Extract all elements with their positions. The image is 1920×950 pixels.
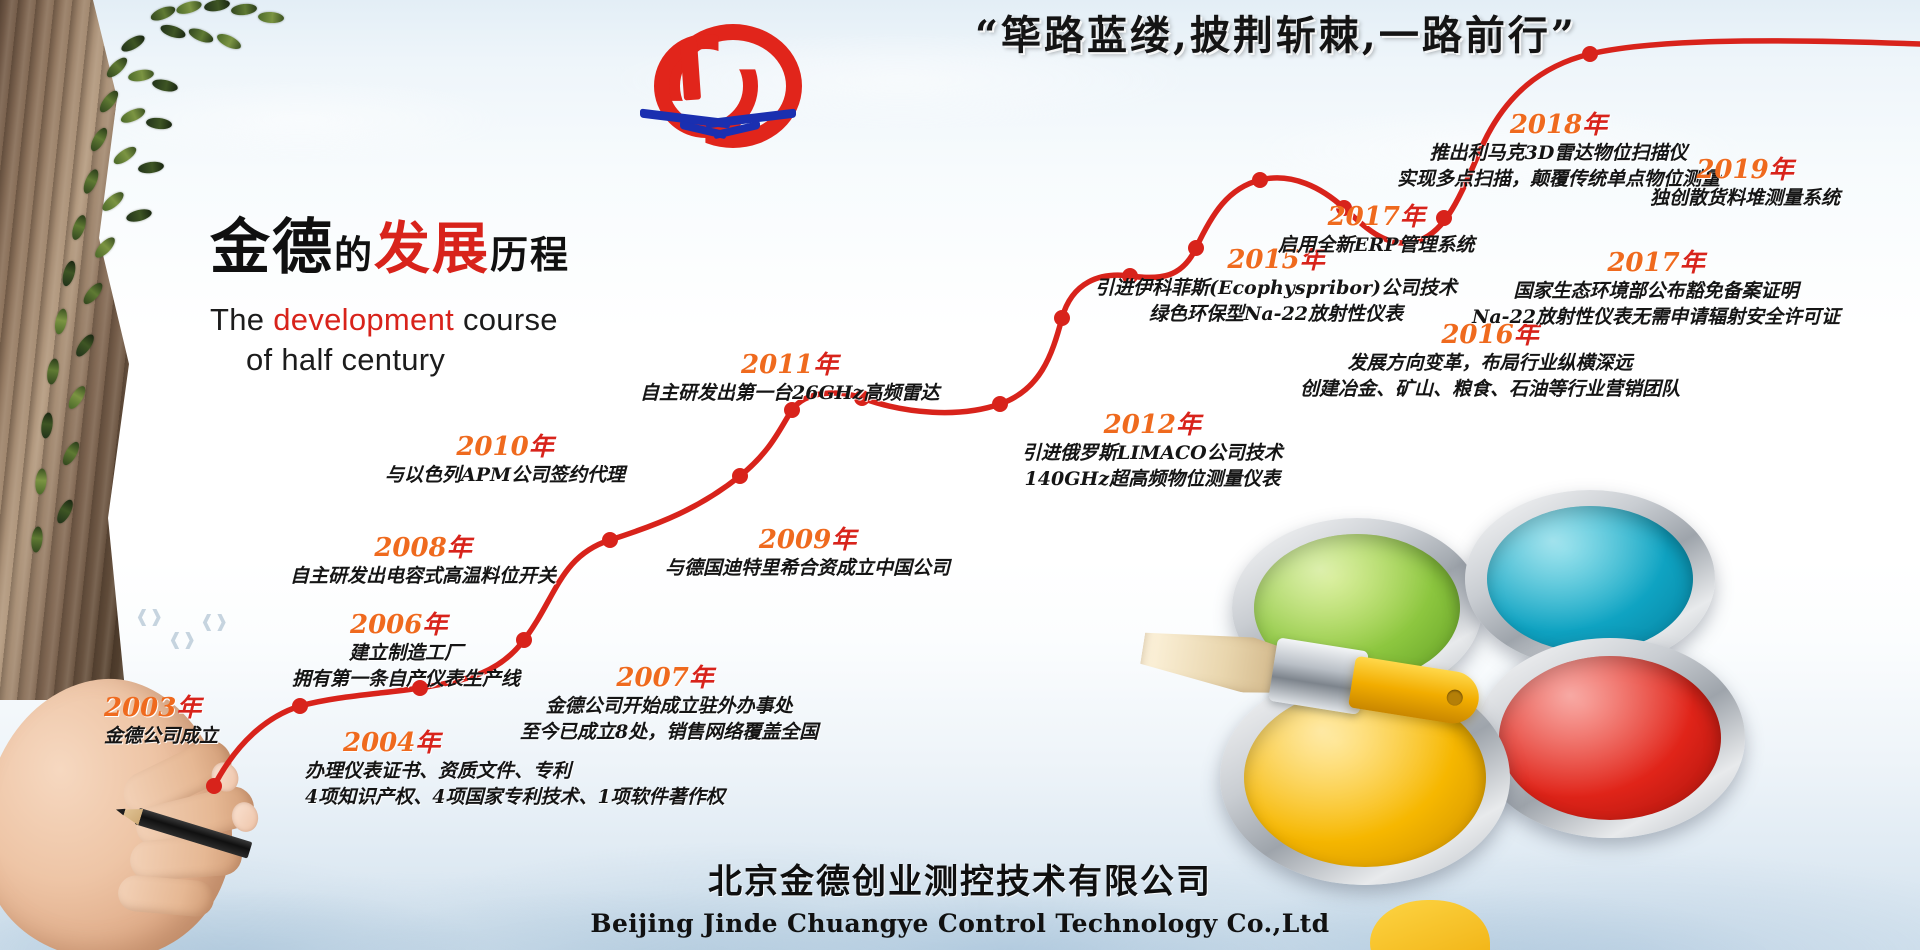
- milestone-line: 与以色列APM公司签约代理: [385, 463, 625, 489]
- milestone-year: 2006年: [350, 605, 520, 641]
- milestone-line: 创建冶金、矿山、粮食、石油等行业营销团队: [1300, 377, 1680, 403]
- milestone-line: 拥有第一条自产仪表生产线: [292, 667, 520, 693]
- milestone-line: 引进伊科菲斯(Ecophyspribor)公司技术: [1095, 276, 1457, 302]
- milestone-line: 办理仪表证书、资质文件、专利: [305, 759, 725, 785]
- tree-trunk: [0, 0, 150, 700]
- company-name-en: Beijing Jinde Chuangye Control Technolog…: [0, 909, 1920, 938]
- milestone-2006[interactable]: 2006年 建立制造工厂 拥有第一条自产仪表生产线: [292, 605, 520, 692]
- milestone-year: 2012年: [1022, 405, 1283, 441]
- milestone-2008[interactable]: 2008年 自主研发出电容式高温料位开关: [290, 528, 556, 590]
- jinde-logo: [648, 18, 798, 158]
- milestone-2017-certificate[interactable]: 2017年 国家生态环境部公布豁免备案证明 Na-22放射性仪表无需申请辐射安全…: [1472, 243, 1840, 330]
- banner-quote: “筚路蓝缕,披荆斩棘,一路前行”: [975, 3, 1795, 61]
- milestone-year: 2010年: [385, 427, 625, 463]
- milestone-2017-erp[interactable]: 2017年 启用全新ERP管理系统: [1278, 197, 1475, 259]
- milestone-year: 2018年: [1397, 105, 1720, 141]
- milestone-year: 2009年: [665, 520, 950, 556]
- paint-can-red: [1475, 638, 1745, 838]
- milestone-line: 与德国迪特里希合资成立中国公司: [665, 556, 950, 582]
- milestone-2003[interactable]: 2003年 金德公司成立: [104, 688, 218, 750]
- milestone-line: 金德公司开始成立驻外办事处: [520, 694, 818, 720]
- logo-wave: [640, 110, 800, 150]
- milestone-year: 2011年: [640, 345, 939, 381]
- milestone-line: 启用全新ERP管理系统: [1278, 233, 1475, 259]
- milestone-line: 4项知识产权、4项国家专利技术、1项软件著作权: [305, 785, 725, 811]
- milestone-line: 自主研发出第一台26GHz高频雷达: [640, 381, 939, 407]
- milestone-line: 国家生态环境部公布豁免备案证明: [1472, 279, 1840, 305]
- milestone-year: 2017年: [1278, 197, 1475, 233]
- title-cn-part4: 历程: [490, 232, 570, 277]
- milestone-year: 2008年: [290, 528, 556, 564]
- title-cn-part2: 的: [334, 232, 374, 277]
- page-title: 金德的发展历程 The development courseof half ce…: [210, 218, 570, 379]
- milestone-line: 独创散货料堆测量系统: [1650, 186, 1840, 212]
- milestone-2019[interactable]: 2019年 独创散货料堆测量系统: [1650, 150, 1840, 212]
- milestone-2009[interactable]: 2009年 与德国迪特里希合资成立中国公司: [665, 520, 950, 582]
- title-en-c: course: [454, 302, 558, 337]
- milestone-year: 2019年: [1650, 150, 1840, 186]
- title-en-a: The: [210, 302, 273, 337]
- milestone-2011[interactable]: 2011年 自主研发出第一台26GHz高频雷达: [640, 345, 939, 407]
- title-cn-part1: 金德: [210, 213, 334, 283]
- milestone-line: 建立制造工厂: [292, 641, 520, 667]
- milestone-line: 发展方向变革，布局行业纵横深远: [1300, 351, 1680, 377]
- title-en-line2: of half century: [246, 340, 570, 380]
- milestone-line: 至今已成立8处，销售网络覆盖全国: [520, 720, 818, 746]
- poster-canvas: ❰❱ ❰❱ ❰❱: [0, 0, 1920, 950]
- footer: 北京金德创业测控技术有限公司 Beijing Jinde Chuangye Co…: [0, 854, 1920, 938]
- company-name-cn: 北京金德创业测控技术有限公司: [0, 854, 1920, 903]
- milestone-2007[interactable]: 2007年 金德公司开始成立驻外办事处 至今已成立8处，销售网络覆盖全国: [520, 658, 818, 745]
- milestone-line: Na-22放射性仪表无需申请辐射安全许可证: [1472, 305, 1840, 331]
- milestone-year: 2007年: [512, 658, 818, 694]
- milestone-line: 金德公司成立: [104, 724, 218, 750]
- milestone-year: 2003年: [104, 688, 218, 724]
- milestone-year: 2017年: [1472, 243, 1840, 279]
- title-chinese: 金德的发展历程: [210, 218, 570, 278]
- milestone-line: 自主研发出电容式高温料位开关: [290, 564, 556, 590]
- title-english: The development courseof half century: [210, 300, 570, 379]
- title-cn-part3: 发展: [374, 216, 490, 282]
- milestone-2010[interactable]: 2010年 与以色列APM公司签约代理: [385, 427, 625, 489]
- milestone-line: 引进俄罗斯LIMACO公司技术: [1022, 441, 1283, 467]
- title-en-b: development: [273, 302, 454, 337]
